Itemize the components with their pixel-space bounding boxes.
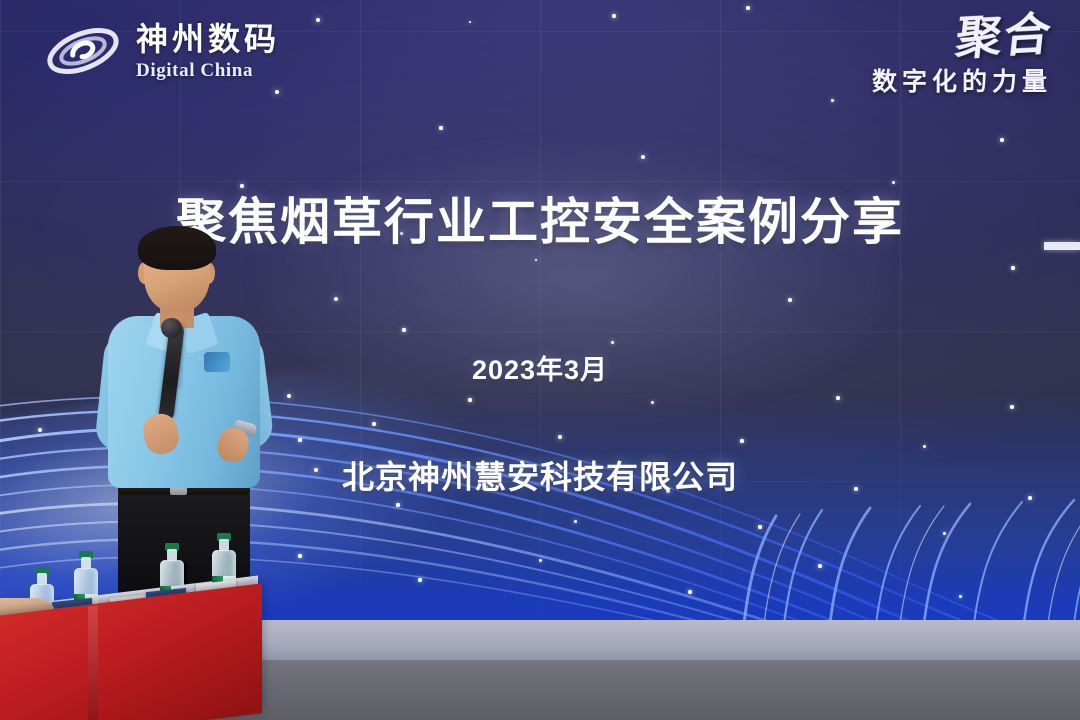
particle-dot — [818, 564, 822, 568]
digital-china-logo: 神州数码 Digital China — [44, 18, 280, 84]
bottle-neck — [81, 557, 91, 569]
particle-dot — [746, 6, 750, 10]
particle-dot — [611, 341, 614, 344]
bottle-neck — [167, 549, 177, 561]
logo-text-block: 神州数码 Digital China — [136, 23, 280, 80]
bottle-neck — [37, 573, 47, 585]
galaxy-swirl-icon — [44, 18, 122, 84]
particle-dot — [612, 14, 615, 17]
particle-dot — [959, 595, 962, 598]
particle-dot — [439, 126, 442, 129]
particle-dot — [38, 428, 42, 432]
speaker-figure — [92, 232, 282, 632]
particle-dot — [1011, 266, 1014, 269]
particle-dot — [651, 401, 654, 404]
speaker-chest-logo-icon — [204, 352, 230, 372]
event-brand-block: 聚合 数字化的力量 — [872, 14, 1052, 98]
speaker-hair — [138, 226, 216, 270]
particle-dot — [740, 439, 743, 442]
particle-dot — [1000, 138, 1003, 141]
particle-dot — [641, 155, 645, 159]
microphone-head-icon — [161, 318, 182, 338]
particle-dot — [539, 559, 542, 562]
particle-dot — [1010, 405, 1013, 408]
particle-dot — [316, 18, 320, 22]
particle-dot — [418, 578, 421, 581]
brand-subtitle: 数字化的力量 — [872, 62, 1052, 98]
right-edge-dash — [1044, 242, 1080, 250]
bottle-neck — [219, 539, 229, 551]
screenshot-root: 神州数码 Digital China 聚合 数字化的力量 聚焦烟草行业工控安全案… — [0, 0, 1080, 720]
logo-name-cn: 神州数码 — [136, 23, 280, 55]
particle-dot — [372, 422, 375, 425]
particle-dot — [298, 438, 301, 441]
brand-calligraphy: 聚合 — [953, 12, 1055, 63]
particle-dot — [574, 520, 577, 523]
particle-dot — [758, 525, 761, 528]
table-cloth-fold — [88, 605, 98, 720]
particle-dot — [943, 532, 946, 535]
particle-dot — [402, 328, 405, 331]
particle-dot — [831, 99, 834, 102]
particle-dot — [788, 298, 792, 302]
particle-dot — [298, 554, 301, 557]
particle-dot — [923, 445, 926, 448]
particle-dot — [836, 396, 840, 400]
particle-dot — [688, 590, 691, 593]
logo-name-en: Digital China — [136, 61, 280, 80]
particle-dot — [558, 435, 562, 439]
particle-dot — [396, 503, 399, 506]
particle-dot — [468, 398, 471, 401]
